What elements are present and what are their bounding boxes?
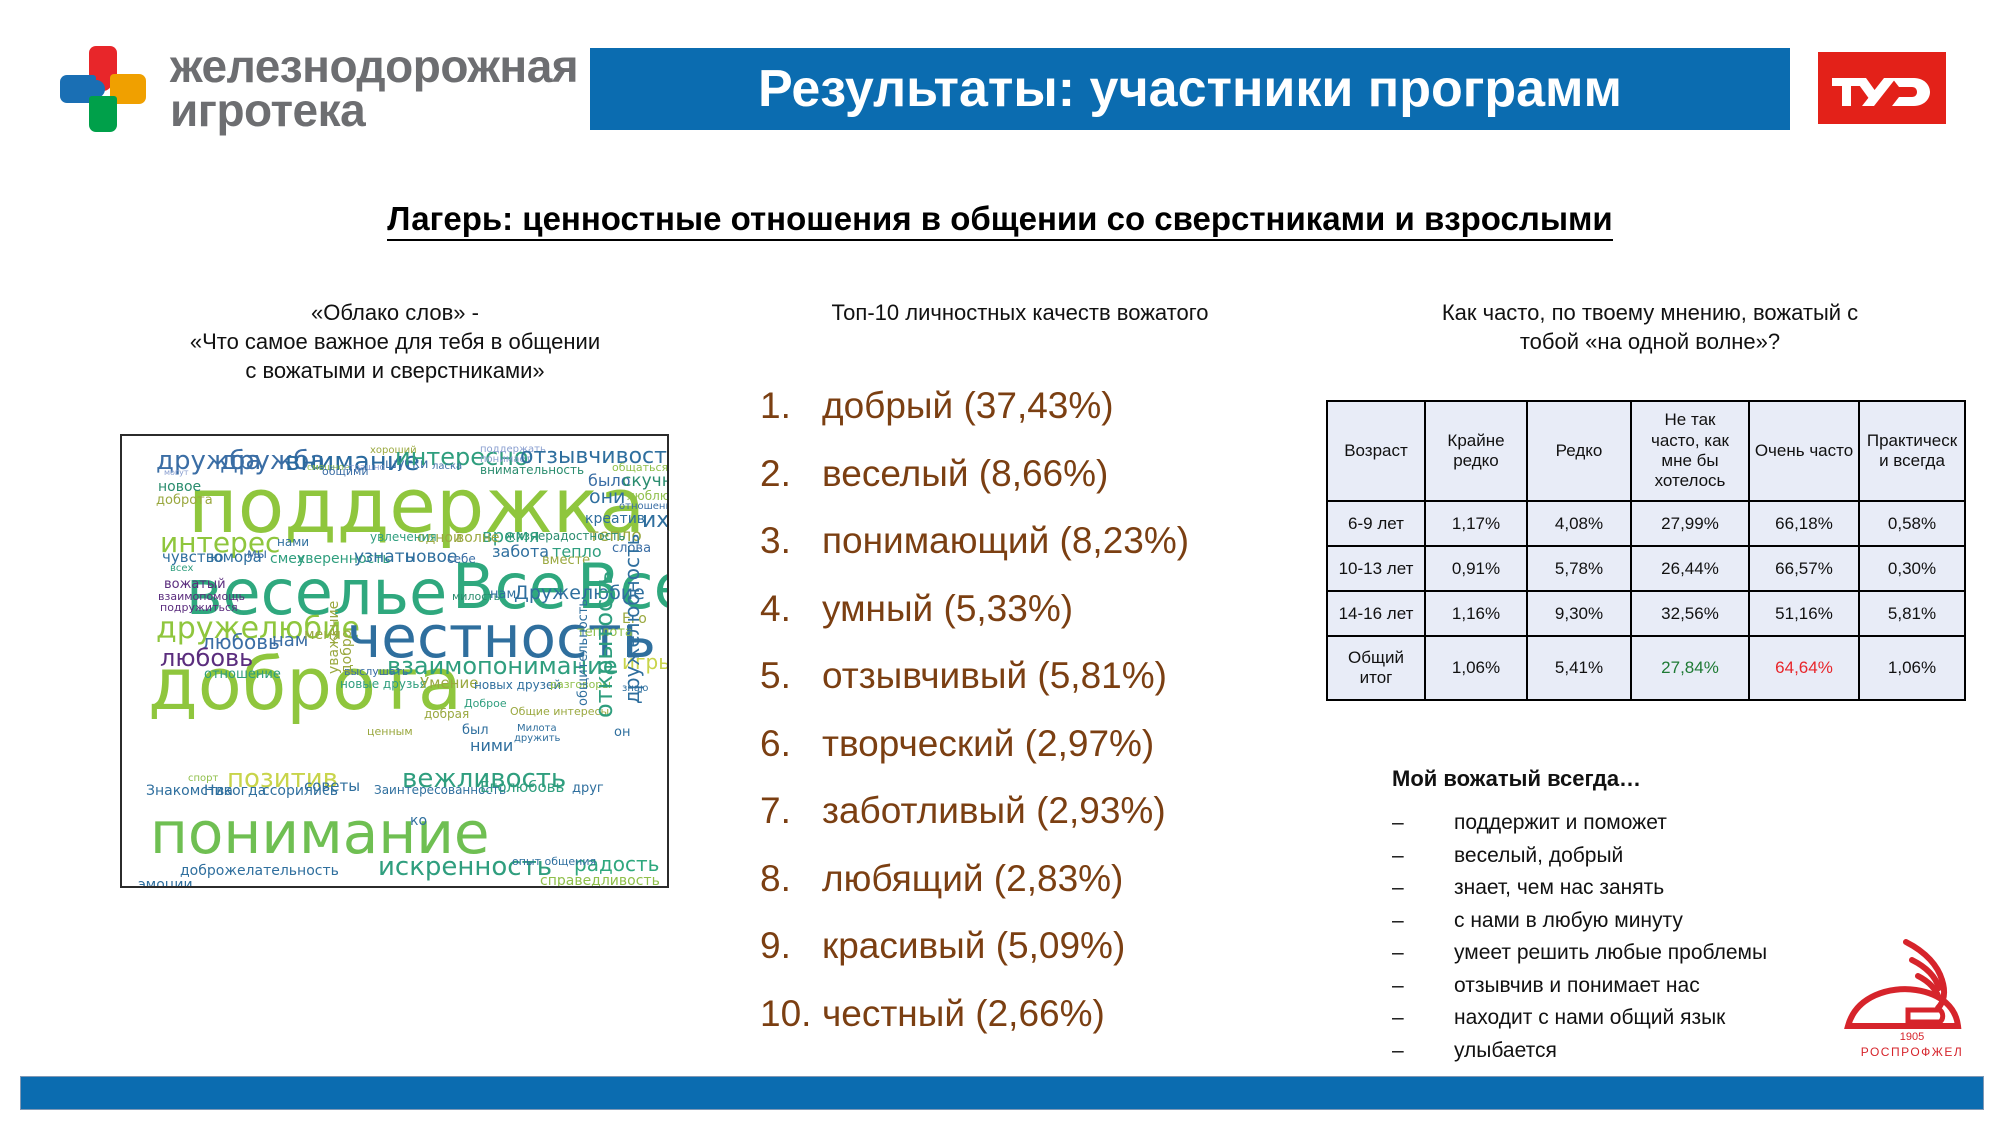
word-cloud-word: Никогда [204, 784, 266, 798]
word-cloud-word: Его [480, 780, 507, 795]
table-cell-value: 66,18% [1749, 501, 1859, 546]
table-cell-value: 1,17% [1425, 501, 1527, 546]
word-cloud-word: опыт [618, 884, 650, 888]
top10-item-text: заботливый (2,93%) [822, 790, 1300, 832]
col-header-rarely: Редко [1527, 401, 1631, 501]
table-cell-value: 26,44% [1631, 546, 1749, 591]
bullet-item: –с нами в любую минуту [1392, 910, 1952, 931]
word-cloud-word: их [642, 510, 669, 532]
word-cloud-word: веселые [452, 886, 509, 888]
word-cloud-word: могут [164, 469, 189, 477]
top10-item-text: творческий (2,97%) [822, 723, 1300, 765]
top10-item: 7.заботливый (2,93%) [760, 790, 1300, 832]
h3-line-2: часто, как [1651, 431, 1729, 450]
top10-item-text: веселый (8,66%) [822, 453, 1300, 495]
top10-item-number: 3. [760, 520, 822, 562]
word-cloud-word: доверие [120, 444, 126, 708]
freq-heading-line-1: Как часто, по твоему мнению, вожатый с [1390, 298, 1910, 327]
word-cloud-image: довериедружбадружбавниманиехорошийшуткии… [120, 434, 669, 888]
table-cell-value: 0,58% [1859, 501, 1965, 546]
bullet-item: –веселый, добрый [1392, 845, 1952, 866]
page-title: Результаты: участники программ [758, 59, 1622, 119]
top10-heading-text: Топ-10 личностных качеств вожатого [760, 298, 1280, 327]
top10-item: 3.понимающий (8,23%) [760, 520, 1300, 562]
top10-item: 4.умный (5,33%) [760, 588, 1300, 630]
word-cloud-word: дружить [514, 734, 560, 744]
word-cloud-word: ко [410, 814, 427, 828]
bullet-text: с нами в любую минуту [1454, 910, 1683, 931]
frequency-heading: Как часто, по твоему мнению, вожатый с т… [1390, 298, 1910, 356]
top10-item: 1.добрый (37,43%) [760, 385, 1300, 427]
word-cloud-word: отношение [204, 668, 281, 681]
table-cell-value: 32,56% [1631, 591, 1749, 636]
bullets-title: Мой вожатый всегда… [1392, 766, 1641, 792]
word-cloud-word: доброта [156, 494, 213, 507]
igroteka-wordmark: железнодорожная игротека [170, 45, 578, 132]
top10-item-text: понимающий (8,23%) [822, 520, 1300, 562]
table-cell-age: 14-16 лет [1327, 591, 1425, 636]
word-cloud-word: открытость [592, 571, 616, 718]
word-cloud-word: волне [456, 531, 500, 545]
word-cloud-word: нам [490, 588, 516, 601]
word-cloud-word: опыт общения [512, 856, 596, 867]
total-label-line-1: Общий [1348, 648, 1404, 667]
top10-item-number: 1. [760, 385, 822, 427]
word-cloud-word: эмоции [138, 878, 193, 888]
table-cell-age: 6-9 лет [1327, 501, 1425, 546]
rzd-logo [1818, 52, 1946, 124]
cloud-heading-line-1: «Облако слов» - [110, 298, 680, 327]
table-cell-value: 51,16% [1749, 591, 1859, 636]
bullet-dash: – [1392, 1007, 1454, 1028]
top10-item: 10.честный (2,66%) [760, 993, 1300, 1035]
rosprofzhel-logo: 1905 РОСПРОФЖЕЛ [1838, 930, 1986, 1070]
top10-item-text: добрый (37,43%) [822, 385, 1300, 427]
top10-item-text: отзывчивый (5,81%) [822, 655, 1300, 697]
slide: железнодорожная игротека Результаты: уча… [0, 0, 2000, 1125]
top10-item-number: 9. [760, 925, 822, 967]
puzzle-icon [58, 44, 148, 134]
table-cell-value: 1,16% [1425, 591, 1527, 636]
top10-item-number: 10. [760, 993, 822, 1035]
top10-item-number: 7. [760, 790, 822, 832]
bullet-text: отзывчив и понимает нас [1454, 975, 1700, 996]
subtitle-text: Лагерь: ценностные отношения в общении с… [387, 200, 1612, 241]
top10-item: 6.творческий (2,97%) [760, 723, 1300, 765]
frequency-table: Возраст Крайне редко Редко Не так часто,… [1326, 400, 1966, 701]
rpz-year: 1905 [1900, 1031, 1924, 1043]
word-cloud-word: всегда [380, 886, 452, 888]
table-cell-total-value: 1,06% [1425, 636, 1527, 700]
table-cell-total-value: 27,84% [1631, 636, 1749, 700]
table-row: 10-13 лет0,91%5,78%26,44%66,57%0,30% [1327, 546, 1965, 591]
word-cloud-word: всех [170, 564, 193, 574]
top10-item-text: честный (2,66%) [822, 993, 1300, 1035]
col-header-extremely-rarely: Крайне редко [1425, 401, 1527, 501]
word-cloud-word: добро [340, 630, 354, 674]
word-cloud-word: советы [304, 779, 360, 794]
bullet-text: находит с нами общий язык [1454, 1007, 1725, 1028]
bullet-text: умеет решить любые проблемы [1454, 942, 1767, 963]
table-cell-value: 66,57% [1749, 546, 1859, 591]
h3-line-3: мне бы [1661, 451, 1718, 470]
table-row: 14-16 лет1,16%9,30%32,56%51,16%5,81% [1327, 591, 1965, 636]
cloud-heading-line-2: «Что самое важное для тебя в общении [110, 327, 680, 356]
title-banner: Результаты: участники программ [590, 48, 1790, 130]
bullet-dash: – [1392, 910, 1454, 931]
word-cloud-word: добрая [424, 708, 469, 720]
word-cloud-word: ценным [367, 726, 413, 737]
rpz-name: РОСПРОФЖЕЛ [1861, 1045, 1964, 1059]
brand-line-1: железнодорожная [170, 45, 578, 89]
word-cloud-word: друг [572, 782, 604, 795]
table-cell-value: 5,78% [1527, 546, 1631, 591]
col-header-age: Возраст [1327, 401, 1425, 501]
top10-item: 5.отзывчивый (5,81%) [760, 655, 1300, 697]
word-cloud-word: спорт [188, 774, 218, 784]
h5-line-2: и всегда [1879, 451, 1945, 470]
top10-item: 2.веселый (8,66%) [760, 453, 1300, 495]
word-cloud-word: ними [470, 738, 513, 754]
table-cell-total-value: 5,41% [1527, 636, 1631, 700]
table-cell-value: 5,81% [1859, 591, 1965, 636]
top10-item-text: любящий (2,83%) [822, 858, 1300, 900]
bottom-accent-bar [20, 1076, 1984, 1110]
top10-heading: Топ-10 личностных качеств вожатого [760, 298, 1280, 327]
table-cell-value: 0,30% [1859, 546, 1965, 591]
top10-list: 1.добрый (37,43%)2.веселый (8,66%)3.пони… [760, 385, 1300, 1060]
table-total-row: Общийитог1,06%5,41%27,84%64,64%1,06% [1327, 636, 1965, 700]
h3-line-1: Не так [1665, 410, 1716, 429]
h1-line-2: редко [1453, 451, 1499, 470]
bullet-text: знает, чем нас занять [1454, 877, 1664, 898]
brand-line-2: игротека [170, 89, 578, 133]
top10-item-number: 2. [760, 453, 822, 495]
bullet-item: –знает, чем нас занять [1392, 877, 1952, 898]
h5-line-1: Практическ [1867, 431, 1957, 450]
bullet-dash: – [1392, 1040, 1454, 1061]
freq-heading-line-2: тобой «на одной волне»? [1390, 327, 1910, 356]
bullet-dash: – [1392, 942, 1454, 963]
table-cell-value: 4,08% [1527, 501, 1631, 546]
word-cloud-word: любовь [506, 780, 564, 795]
word-cloud-word: доброжелательность [180, 864, 339, 878]
col-header-very-often: Очень часто [1749, 401, 1859, 501]
table-cell-total-label: Общийитог [1327, 636, 1425, 700]
bullet-item: –поддержит и поможет [1392, 812, 1952, 833]
bullet-dash: – [1392, 975, 1454, 996]
table-cell-value: 0,91% [1425, 546, 1527, 591]
table-cell-total-value: 1,06% [1859, 636, 1965, 700]
word-cloud-word: он [614, 726, 630, 739]
word-cloud-word: нами [277, 536, 309, 548]
h1-line-1: Крайне [1447, 431, 1504, 450]
slide-subtitle: Лагерь: ценностные отношения в общении с… [0, 200, 2000, 238]
table-cell-total-value: 64,64% [1749, 636, 1859, 700]
table-cell-value: 27,99% [1631, 501, 1749, 546]
cloud-heading-line-3: с вожатыми и сверстниками» [110, 356, 680, 385]
word-cloud-word: дружелюбность [622, 534, 642, 704]
word-cloud-word: Доброе [464, 698, 507, 709]
col-header-not-as-often: Не так часто, как мне бы хотелось [1631, 401, 1749, 501]
bullet-dash: – [1392, 812, 1454, 833]
top10-item-number: 6. [760, 723, 822, 765]
top10-item-text: красивый (5,09%) [822, 925, 1300, 967]
word-cloud-heading: «Облако слов» - «Что самое важное для те… [110, 298, 680, 385]
bullet-text: веселый, добрый [1454, 845, 1623, 866]
word-cloud-word: новое [158, 480, 201, 494]
bullet-dash: – [1392, 877, 1454, 898]
top10-item-text: умный (5,33%) [822, 588, 1300, 630]
word-cloud-word: общительность [577, 599, 590, 706]
word-cloud-word: новые друзья [340, 678, 427, 690]
word-cloud-word: креатив [585, 512, 645, 526]
table-cell-value: 9,30% [1527, 591, 1631, 636]
top10-item: 8.любящий (2,83%) [760, 858, 1300, 900]
top10-item-number: 5. [760, 655, 822, 697]
bullet-dash: – [1392, 845, 1454, 866]
table-header-row: Возраст Крайне редко Редко Не так часто,… [1327, 401, 1965, 501]
word-cloud-word: скучно [622, 473, 669, 490]
bullet-text: улыбается [1454, 1040, 1557, 1061]
word-cloud-word: увлечения [370, 531, 437, 543]
col-header-almost-always: Практическ и всегда [1859, 401, 1965, 501]
h3-line-4: хотелось [1655, 471, 1726, 490]
slide-header: железнодорожная игротека Результаты: уча… [0, 0, 2000, 170]
table-row: 6-9 лет1,17%4,08%27,99%66,18%0,58% [1327, 501, 1965, 546]
bullet-text: поддержит и поможет [1454, 812, 1667, 833]
top10-item-number: 8. [760, 858, 822, 900]
igroteka-logo: железнодорожная игротека [58, 44, 558, 134]
word-cloud-word: новых друзей [474, 679, 561, 691]
table-cell-age: 10-13 лет [1327, 546, 1425, 591]
top10-item: 9.красивый (5,09%) [760, 925, 1300, 967]
total-label-line-2: итог [1360, 668, 1393, 687]
top10-item-number: 4. [760, 588, 822, 630]
word-cloud-word: Умение [420, 676, 478, 691]
